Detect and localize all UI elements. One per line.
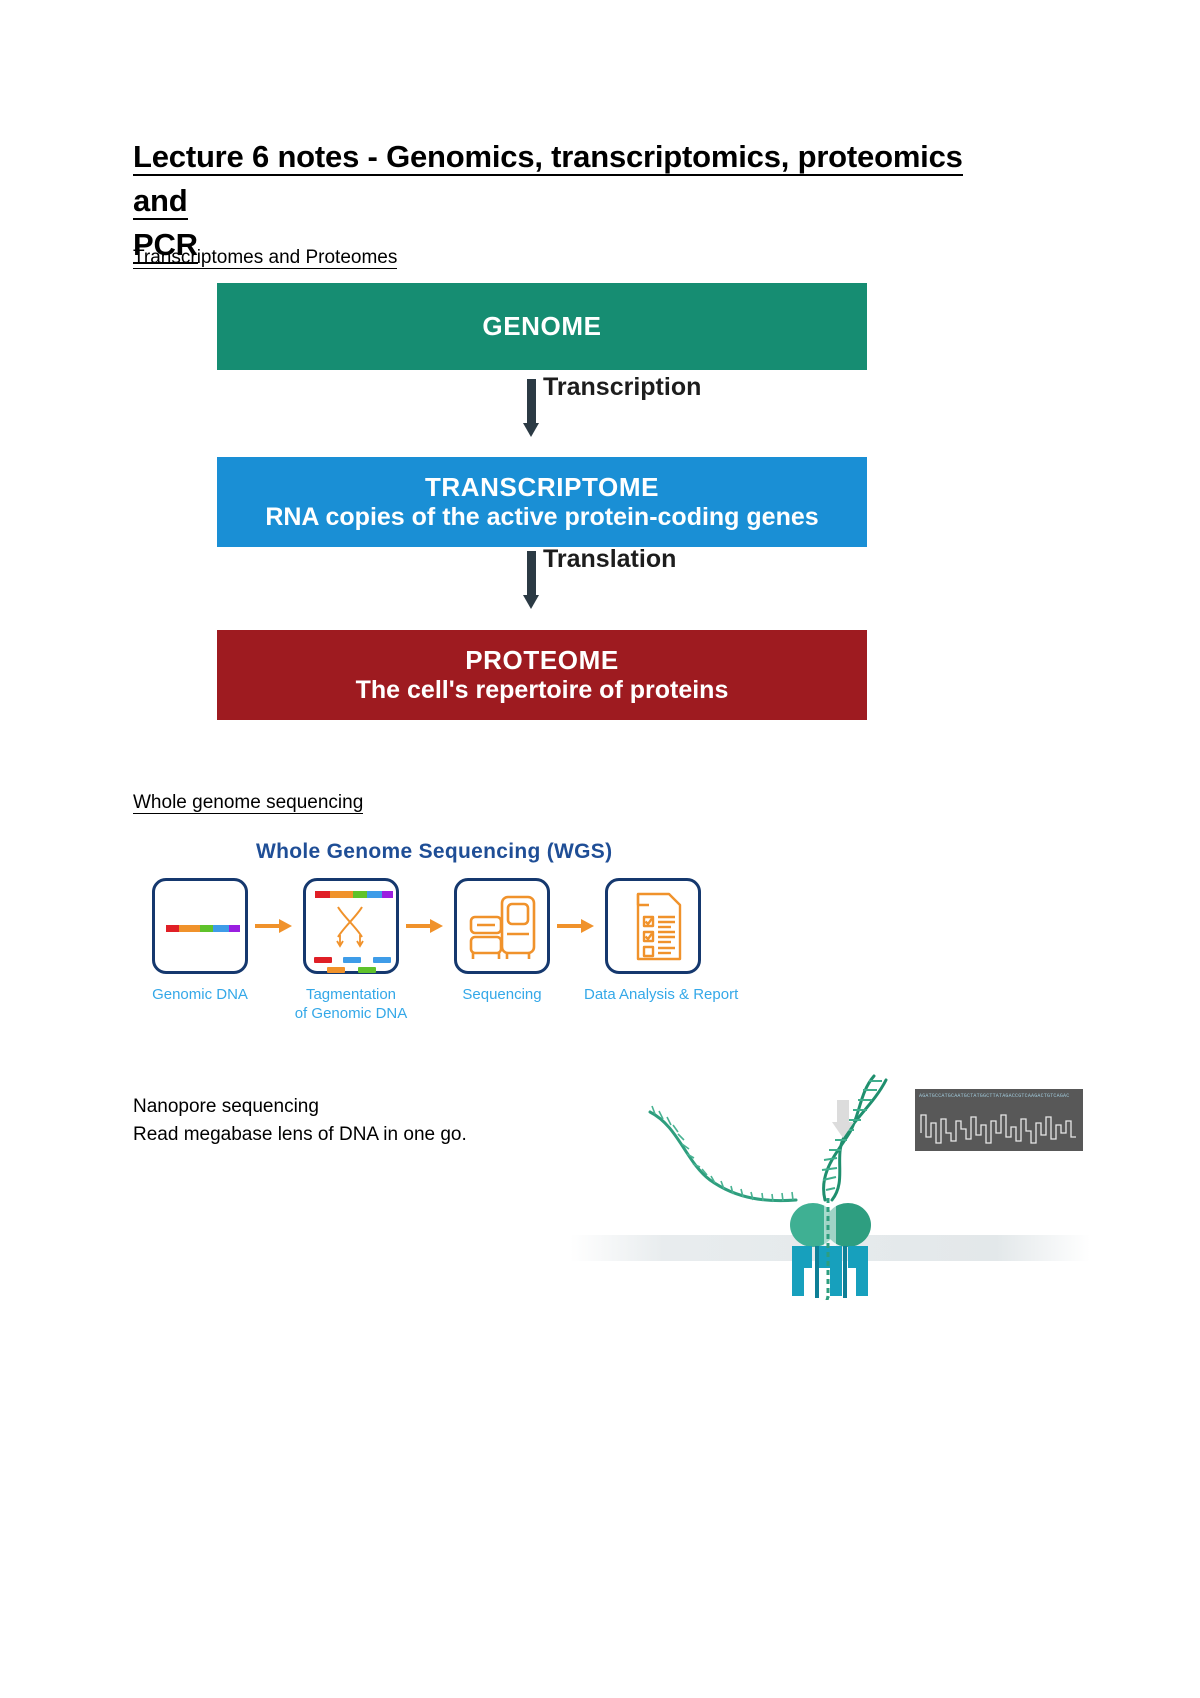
report-document-icon bbox=[608, 881, 698, 971]
flow-box-proteome-title: PROTEOME bbox=[465, 646, 619, 675]
wgs-step-label-tagmentation: Tagmentation of Genomic DNA bbox=[281, 985, 421, 1023]
nanopore-illustration: AGATGCCATGCAATGCTATGGCTTATAGACCGTCAAGACT… bbox=[560, 1040, 1120, 1300]
nanopore-heading: Nanopore sequencing bbox=[133, 1093, 467, 1121]
nanopore-base-sequence: AGATGCCATGCAATGCTATGGCTTATAGACCGTCAAGACT… bbox=[919, 1093, 1079, 1099]
wgs-step-label-genomic-dna: Genomic DNA bbox=[130, 985, 270, 1004]
wgs-figure: Whole Genome Sequencing (WGS) bbox=[148, 830, 748, 1060]
flow-arrow-translation-label: Translation bbox=[543, 545, 676, 574]
dna-fragment bbox=[327, 967, 345, 973]
flow-arrow-translation: Translation bbox=[527, 551, 857, 617]
wgs-figure-title: Whole Genome Sequencing (WGS) bbox=[256, 840, 612, 864]
wgs-arrow-2-icon bbox=[406, 918, 446, 936]
flow-box-transcriptome: TRANSCRIPTOME RNA copies of the active p… bbox=[217, 457, 867, 547]
arrow-shaft bbox=[527, 379, 536, 427]
signal-output-arrow-icon bbox=[832, 1100, 854, 1142]
wgs-step-tagmentation bbox=[303, 878, 399, 974]
document-page: Lecture 6 notes - Genomics, transcriptom… bbox=[0, 0, 1200, 1698]
nanopore-signal-panel: AGATGCCATGCAATGCTATGGCTTATAGACCGTCAAGACT… bbox=[915, 1089, 1083, 1151]
dna-strand-icon bbox=[166, 925, 240, 932]
wgs-label-line2: of Genomic DNA bbox=[295, 1005, 408, 1022]
flow-box-proteome-subtitle: The cell's repertoire of proteins bbox=[356, 676, 729, 704]
flow-arrow-transcription-label: Transcription bbox=[543, 373, 701, 402]
section-heading-transcriptomes-text: Transcriptomes and Proteomes bbox=[133, 247, 397, 269]
section-heading-wgs-text: Whole genome sequencing bbox=[133, 792, 363, 814]
dna-fragment bbox=[373, 957, 391, 963]
wgs-step-label-data-analysis: Data Analysis & Report bbox=[578, 985, 774, 1004]
sequencer-machine-icon bbox=[457, 881, 547, 971]
flow-box-proteome: PROTEOME The cell's repertoire of protei… bbox=[217, 630, 867, 720]
wgs-step-label-sequencing: Sequencing bbox=[432, 985, 572, 1004]
wgs-arrow-3-icon bbox=[557, 918, 597, 936]
arrow-head-icon bbox=[523, 595, 539, 609]
section-heading-transcriptomes: Transcriptomes and Proteomes bbox=[133, 246, 397, 271]
wgs-step-sequencing bbox=[454, 878, 550, 974]
dna-fragment bbox=[343, 957, 361, 963]
flow-arrow-transcription: Transcription bbox=[527, 379, 857, 445]
wgs-label-line1: Tagmentation bbox=[306, 986, 396, 1003]
wgs-arrow-1-icon bbox=[255, 918, 295, 936]
section-heading-whole-genome-sequencing: Whole genome sequencing bbox=[133, 791, 363, 816]
dna-fragment bbox=[358, 967, 376, 973]
nanopore-body: Read megabase lens of DNA in one go. bbox=[133, 1121, 467, 1149]
flow-box-transcriptome-title: TRANSCRIPTOME bbox=[425, 473, 659, 502]
wgs-step-data-analysis bbox=[605, 878, 701, 974]
dna-fragment bbox=[314, 957, 332, 963]
arrow-shaft bbox=[527, 551, 536, 599]
nanopore-squiggle-trace bbox=[915, 1103, 1083, 1151]
pore-protein-barrel bbox=[792, 1246, 868, 1298]
wgs-step-genomic-dna bbox=[152, 878, 248, 974]
nanopore-dna-graphic bbox=[560, 1040, 1120, 1300]
central-dogma-flow-diagram: GENOME Transcription TRANSCRIPTOME RNA c… bbox=[217, 283, 867, 720]
flow-box-genome: GENOME bbox=[217, 283, 867, 370]
flow-box-transcriptome-subtitle: RNA copies of the active protein-coding … bbox=[265, 503, 818, 531]
nanopore-text-block: Nanopore sequencing Read megabase lens o… bbox=[133, 1093, 467, 1149]
flow-box-genome-title: GENOME bbox=[482, 312, 601, 341]
pore-protein-cap bbox=[790, 1203, 871, 1248]
page-title-line1: Lecture 6 notes - Genomics, transcriptom… bbox=[133, 139, 963, 220]
arrow-head-icon bbox=[523, 423, 539, 437]
